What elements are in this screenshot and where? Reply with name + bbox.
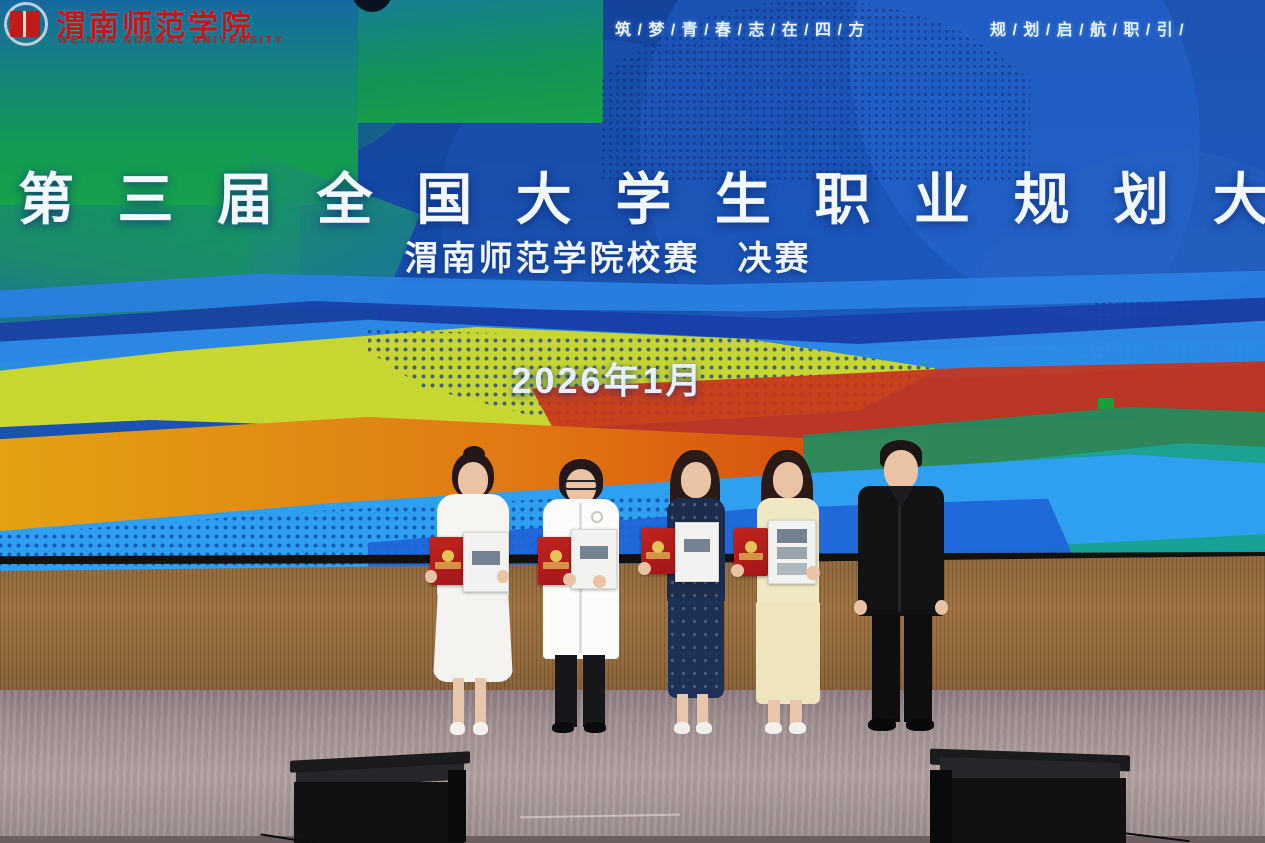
green-panel-upper [358,0,603,123]
wooden-wall [0,556,1265,706]
slogan-left: 筑 / 梦 / 青 / 春 / 志 / 在 / 四 / 方 [615,16,865,40]
person-5-shoe-right [906,718,934,731]
person-2-hand-right [593,575,606,588]
person-3-head [681,462,711,498]
person-1-gift-box [463,532,509,592]
person-5-trouser-left [872,614,900,722]
person-1-hand-right [497,570,509,583]
event-main-title: 第 三 届 全 国 大 学 生 职 业 规 划 大 赛 [18,155,1198,236]
person-5-hand-right [935,600,948,615]
person-1-leg-left [453,678,464,726]
stage-monitor-left [290,756,470,843]
person-5-hand-left [854,600,867,615]
led-backdrop: 渭南师范学院 WEINAN NORMAL UNIVERSITY 筑 / 梦 / … [0,0,1265,600]
university-name-en: WEINAN NORMAL UNIVERSITY [58,35,285,46]
slogan-right: 规 / 划 / 启 / 航 / 职 / 引 / [990,16,1185,40]
person-1-bun [463,446,485,462]
person-1-head [458,462,488,498]
person-2-glasses-icon [564,480,598,490]
event-sub-title: 渭南师范学院校赛 决赛 [18,231,1198,280]
person-3-shoe-right [696,722,712,734]
person-5-trouser-right [904,614,932,722]
person-3-hand-left [638,562,651,575]
person-4-shoe-left [765,722,782,734]
university-logo: 渭南师范学院 WEINAN NORMAL UNIVERSITY [4,2,280,48]
person-2-badge-icon [591,511,603,523]
person-2-hand-left [563,573,576,586]
event-date: 2026年1月 [18,352,1198,404]
person-1-skirt [433,592,513,682]
person-4 [742,450,834,740]
person-2-shoe-right [584,722,606,733]
person-1-leg-right [475,678,486,726]
person-4-head [773,462,803,498]
person-4-dress-skirt [756,602,820,704]
person-5-head [884,450,918,490]
person-2-shoe-left [552,722,574,733]
person-4-hand-right [806,566,820,580]
person-5-jacket-seam [898,490,901,612]
stage-monitor-right [930,752,1130,843]
person-2-trouser-right [583,655,605,727]
person-3-gift-box [675,522,719,582]
university-emblem-icon [4,2,50,46]
person-5-shoe-left [868,718,896,731]
person-1-hand-left [425,570,437,583]
person-3-shoe-left [674,722,690,734]
person-1-shoe-right [473,722,488,735]
person-4-shoe-right [789,722,806,734]
person-2-trouser-left [555,655,577,727]
stage-photo: 渭南师范学院 WEINAN NORMAL UNIVERSITY 筑 / 梦 / … [0,0,1265,843]
person-1 [425,452,520,742]
person-2 [533,459,628,744]
person-3 [650,450,740,740]
person-4-hand-left [731,564,744,577]
person-5 [852,440,952,740]
person-1-shoe-left [450,722,465,735]
